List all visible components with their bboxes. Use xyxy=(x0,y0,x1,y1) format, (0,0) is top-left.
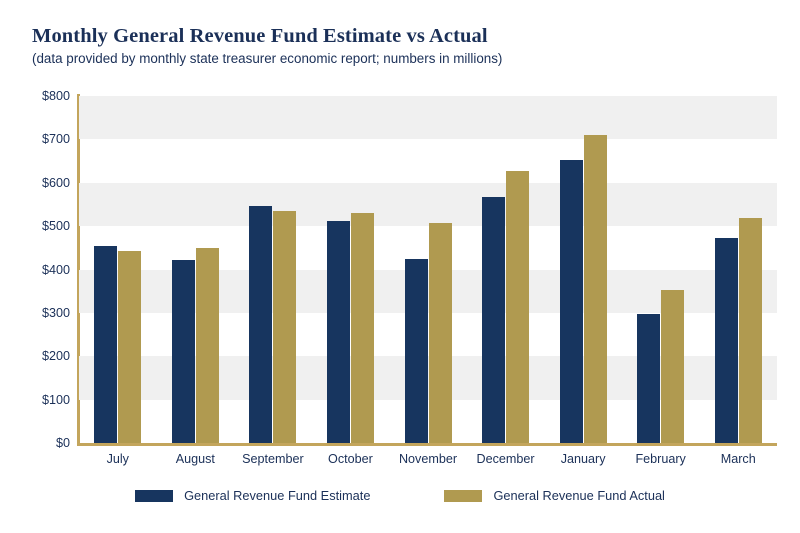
y-axis-tick-label: $100 xyxy=(0,393,70,407)
y-axis-tick-label: $0 xyxy=(0,436,70,450)
x-axis-tick-labels: JulyAugustSeptemberOctoberNovemberDecemb… xyxy=(79,452,777,474)
bar-estimate[interactable] xyxy=(94,246,117,443)
legend-item[interactable]: General Revenue Fund Actual xyxy=(444,488,664,503)
bar-actual[interactable] xyxy=(196,248,219,443)
legend-item[interactable]: General Revenue Fund Estimate xyxy=(135,488,370,503)
x-axis-tick-label: January xyxy=(561,452,606,466)
bar-actual[interactable] xyxy=(661,290,684,443)
bar-group xyxy=(249,96,296,443)
plot-area xyxy=(79,96,777,443)
x-axis-tick-label: August xyxy=(176,452,215,466)
y-axis-tick-label: $500 xyxy=(0,219,70,233)
bars-layer xyxy=(79,96,777,443)
x-axis-tick-label: December xyxy=(477,452,535,466)
bar-estimate[interactable] xyxy=(172,260,195,443)
bar-actual[interactable] xyxy=(351,213,374,443)
bar-actual[interactable] xyxy=(429,223,452,443)
bar-group xyxy=(172,96,219,443)
bar-group xyxy=(560,96,607,443)
y-axis-tick-label: $200 xyxy=(0,349,70,363)
bar-estimate[interactable] xyxy=(715,238,738,443)
bar-actual[interactable] xyxy=(506,171,529,443)
x-axis-tick-label: March xyxy=(721,452,756,466)
x-axis-tick-label: September xyxy=(242,452,304,466)
y-axis-tick-label: $800 xyxy=(0,89,70,103)
bar-group xyxy=(405,96,452,443)
chart-subtitle: (data provided by monthly state treasure… xyxy=(32,51,772,67)
x-axis-tick-label: October xyxy=(328,452,373,466)
legend-swatch-icon xyxy=(135,490,173,502)
bar-actual[interactable] xyxy=(739,218,762,443)
x-axis-line xyxy=(77,443,777,446)
revenue-bar-chart: Monthly General Revenue Fund Estimate vs… xyxy=(0,0,800,533)
bar-estimate[interactable] xyxy=(327,221,350,443)
y-axis-tick-label: $700 xyxy=(0,132,70,146)
bar-actual[interactable] xyxy=(584,135,607,443)
page-title: Monthly General Revenue Fund Estimate vs… xyxy=(32,24,772,48)
bar-actual[interactable] xyxy=(118,251,141,443)
bar-group xyxy=(715,96,762,443)
bar-group xyxy=(482,96,529,443)
x-axis-tick-label: February xyxy=(635,452,685,466)
chart-legend: General Revenue Fund EstimateGeneral Rev… xyxy=(0,488,800,503)
x-axis-tick-label: July xyxy=(107,452,129,466)
bar-estimate[interactable] xyxy=(482,197,505,443)
x-axis-tick-label: November xyxy=(399,452,457,466)
bar-group xyxy=(94,96,141,443)
y-axis-tick-label: $600 xyxy=(0,176,70,190)
bar-estimate[interactable] xyxy=(560,160,583,443)
legend-label: General Revenue Fund Actual xyxy=(493,488,664,503)
bar-estimate[interactable] xyxy=(405,259,428,443)
bar-group xyxy=(637,96,684,443)
bar-estimate[interactable] xyxy=(637,314,660,443)
legend-label: General Revenue Fund Estimate xyxy=(184,488,370,503)
chart-header: Monthly General Revenue Fund Estimate vs… xyxy=(32,24,772,67)
legend-swatch-icon xyxy=(444,490,482,502)
y-axis-tick-label: $300 xyxy=(0,306,70,320)
bar-group xyxy=(327,96,374,443)
y-axis-tick-labels: $800$700$600$500$400$300$200$100$0 xyxy=(0,0,70,533)
y-axis-tick-label: $400 xyxy=(0,263,70,277)
bar-actual[interactable] xyxy=(273,211,296,443)
bar-estimate[interactable] xyxy=(249,206,272,443)
